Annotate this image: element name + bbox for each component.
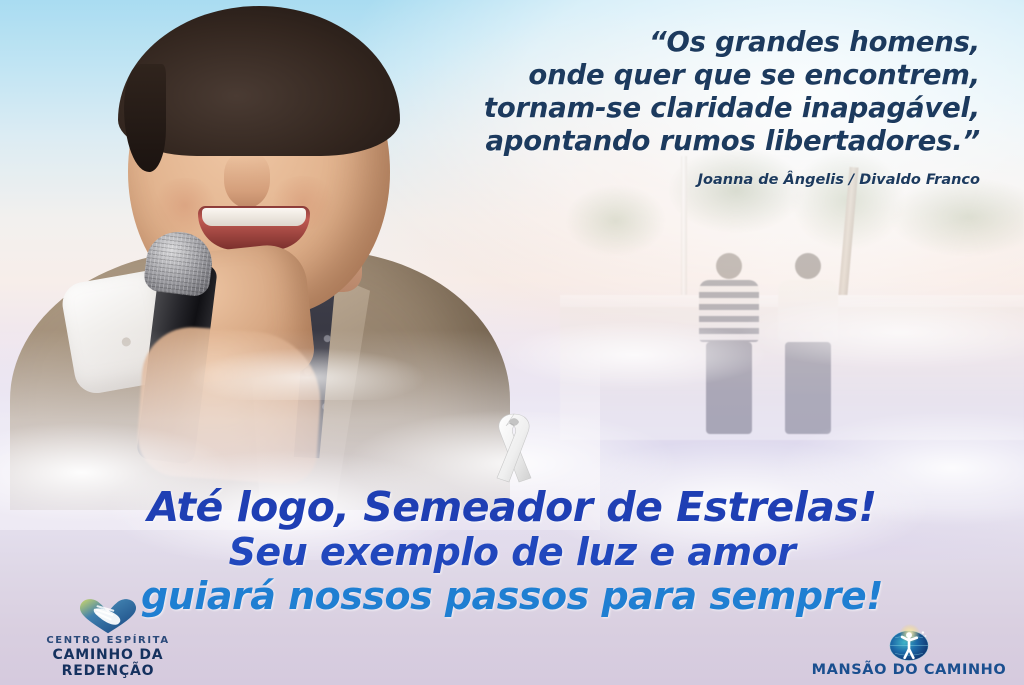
portrait-smile [198,206,310,250]
quote-block: “Os grandes homens, onde quer que se enc… [420,26,980,188]
logo-right-line-1: MANSÃO DO CAMINHO [804,662,1014,679]
globe-figure-icon [804,624,1014,662]
quote-line-2: onde quer que se encontrem, [420,59,980,92]
background-scene-figures [560,150,1024,440]
portrait-nose [224,152,270,208]
logo-centro-espirita: CENTRO ESPÍRITA CAMINHO DA REDENÇÃO [8,596,208,679]
quote-line-4: apontando rumos libertadores.” [420,125,980,158]
scene-figure-white-shirt [778,253,838,434]
portrait-hair [118,6,400,156]
headline-line-1: Até logo, Semeador de Estrelas! [0,486,1024,529]
logo-left-line-2: CAMINHO DA REDENÇÃO [8,647,208,679]
portrait-teeth [202,208,306,226]
mourning-ribbon-icon [483,408,545,484]
quote-line-1: “Os grandes homens, [420,26,980,59]
scene-figure-striped-shirt [699,253,759,434]
quote-line-3: tornam-se claridade inapagável, [420,92,980,125]
headline-line-2: Seu exemplo de luz e amor [0,533,1024,573]
logo-left-line-1: CENTRO ESPÍRITA [8,634,208,647]
quote-attribution: Joanna de Ângelis / Divaldo Franco [420,172,980,188]
logo-mansao-do-caminho: MANSÃO DO CAMINHO [804,624,1014,679]
memorial-poster: “Os grandes homens, onde quer que se enc… [0,0,1024,685]
heart-hands-icon [8,596,208,634]
